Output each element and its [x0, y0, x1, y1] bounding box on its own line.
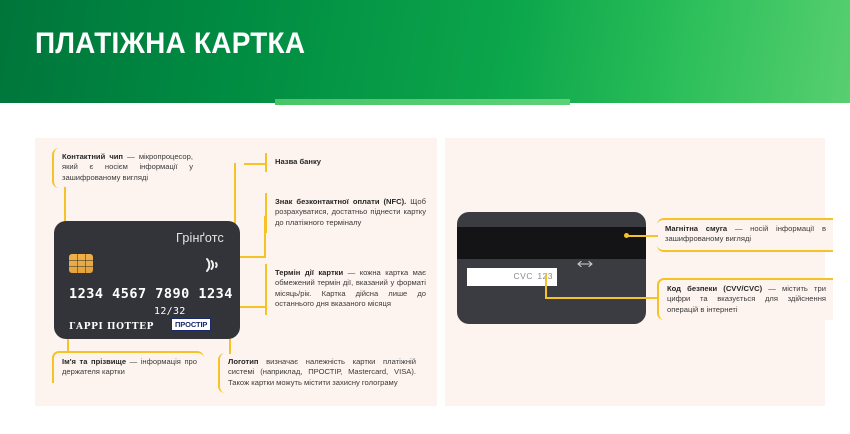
callout-nfc: Знак безконтактної оплати (NFC). Щоб роз…: [265, 193, 433, 233]
card-number: 1234 4567 7890 1234: [69, 286, 233, 302]
callout-nfc-title: Знак безконтактної оплати (NFC).: [275, 197, 406, 206]
page-title: ПЛАТІЖНА КАРТКА: [35, 27, 305, 61]
connector-dot-magnetic-stripe: [624, 233, 629, 238]
infographic-page: ПЛАТІЖНА КАРТКА Контактний чип — мікропр…: [0, 0, 850, 434]
callout-cvv: Код безпеки (CVV/CVC) — містить три цифр…: [657, 278, 833, 320]
nfc-waves-icon: [204, 255, 222, 275]
callout-bank-name: Назва банку: [265, 153, 415, 172]
header-accent-bar: [275, 99, 570, 105]
payment-system-logo: ПРОСТІР: [171, 318, 211, 331]
card-back: CVC 123: [457, 212, 646, 324]
callout-cvv-title: Код безпеки (CVV/CVC): [667, 284, 762, 293]
connector-bank-name-elbow: [234, 163, 248, 233]
callout-magnetic-stripe-title: Магнітна смуга: [665, 224, 727, 233]
magnetic-stripe: [457, 227, 646, 259]
contact-chip-icon: [69, 254, 93, 273]
callout-logo-title: Логотип: [228, 357, 258, 366]
connector-nfc-v: [264, 216, 266, 258]
callout-contact-chip-title: Контактний чип: [62, 152, 123, 161]
callout-bank-name-title: Назва банку: [275, 157, 321, 166]
connector-bank-name-v: [234, 163, 236, 231]
callout-magnetic-stripe: Магнітна смуга — носій інформації в заши…: [657, 218, 833, 252]
callout-holder-title: Ім'я та прізвище: [62, 357, 126, 366]
card-front: Грінґотс 1234 4567 7890 1234 12/32 ГАРРІ…: [54, 221, 240, 339]
chip-line: [69, 266, 93, 267]
connector-magnetic-stripe: [628, 235, 658, 237]
cvc-label: CVC: [514, 271, 533, 281]
callout-contact-chip: Контактний чип — мікропроцесор, який є н…: [52, 148, 200, 188]
connector-cvv-h: [545, 297, 658, 299]
card-holder-name: ГАРРІ ПОТТЕР: [69, 322, 154, 332]
callout-holder: Ім'я та прізвище — інформація про держат…: [52, 351, 204, 383]
hologram-arrow-icon: [577, 260, 593, 268]
callout-expiry-title: Термін дії картки: [275, 268, 343, 277]
callout-expiry: Термін дії картки — кожна картка має обм…: [265, 264, 433, 315]
connector-cvv-v: [545, 273, 547, 299]
chip-line: [85, 254, 86, 273]
page-header: ПЛАТІЖНА КАРТКА: [0, 0, 850, 103]
card-bank-name: Грінґотс: [176, 231, 224, 245]
payment-system-logo-text: ПРОСТІР: [175, 320, 207, 329]
callout-logo: Логотип визначає належність картки платі…: [218, 353, 423, 393]
card-expiry: 12/32: [154, 306, 186, 317]
signature-panel: CVC 123: [467, 268, 557, 286]
